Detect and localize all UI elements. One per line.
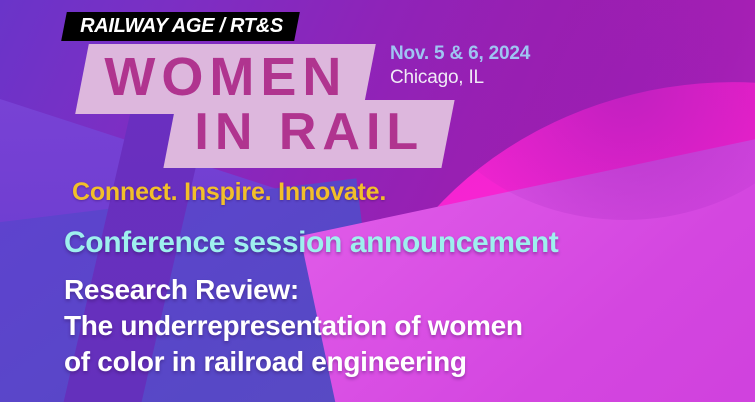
event-tagline: Connect. Inspire. Innovate.: [72, 178, 386, 207]
session-label: Research Review:: [64, 272, 523, 308]
session-title-line-2: of color in railroad engineering: [64, 344, 523, 380]
event-title-line-2: IN RAIL: [194, 106, 424, 158]
event-details: Nov. 5 & 6, 2024 Chicago, IL: [390, 42, 530, 90]
event-title-banner-in-rail: IN RAIL: [163, 100, 454, 168]
promo-content: RAILWAY AGE / RT&S WOMEN IN RAIL Nov. 5 …: [0, 0, 755, 402]
session-title-block: Research Review: The underrepresentation…: [64, 272, 523, 379]
railway-age-rts-logo: RAILWAY AGE / RT&S: [61, 12, 299, 41]
event-title-line-1: WOMEN: [104, 50, 347, 104]
logo-text: RAILWAY AGE / RT&S: [80, 16, 283, 36]
event-location: Chicago, IL: [390, 66, 530, 91]
event-date: Nov. 5 & 6, 2024: [390, 42, 530, 66]
session-announcement-heading: Conference session announcement: [64, 226, 558, 260]
women-in-rail-promo-graphic: RAILWAY AGE / RT&S WOMEN IN RAIL Nov. 5 …: [0, 0, 755, 402]
session-title-line-1: The underrepresentation of women: [64, 308, 523, 344]
